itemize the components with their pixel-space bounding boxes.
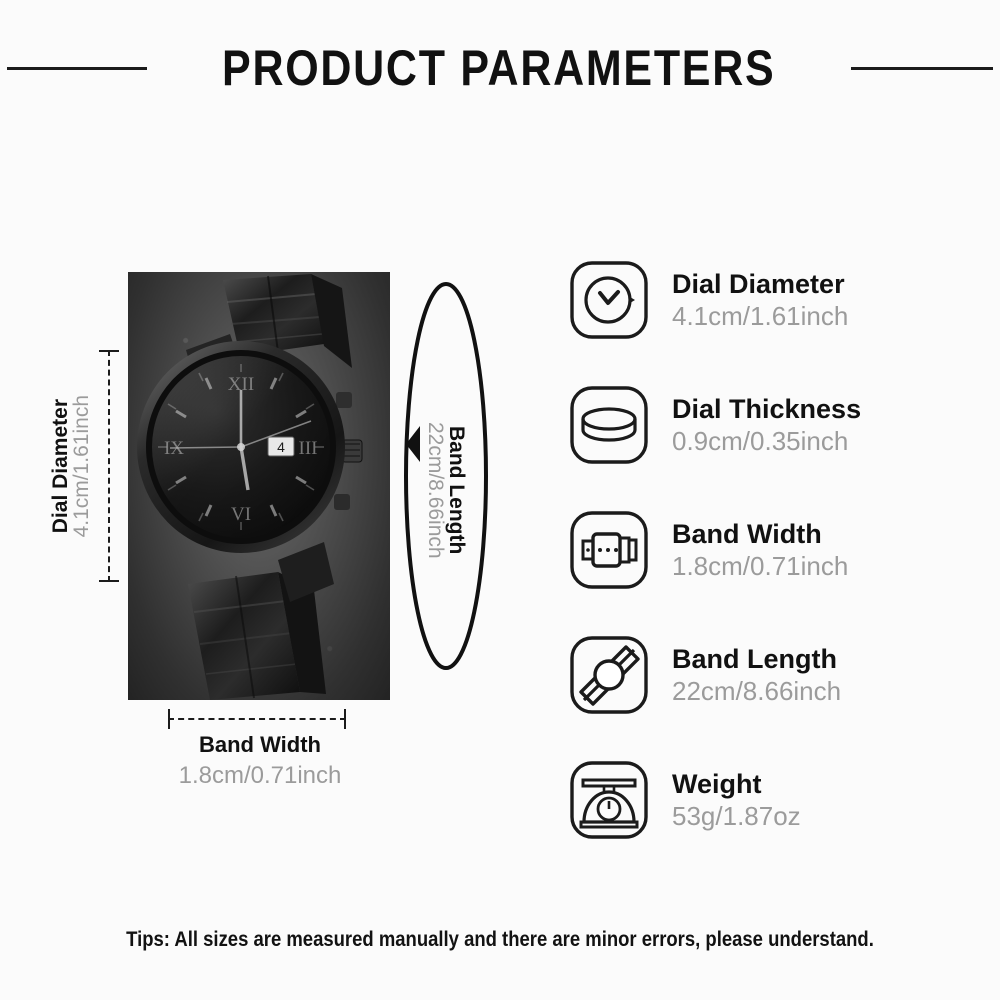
- title-rule-left: [7, 67, 147, 70]
- measure-cap-left: [168, 709, 170, 729]
- product-photo: XII IX III VI 4: [128, 272, 390, 700]
- band-width-annotation-label: Band Width: [60, 730, 460, 760]
- spec-label-dial-thickness: Dial Thickness: [672, 393, 968, 426]
- disc-thickness-icon: [568, 384, 650, 466]
- band-width-annotation: Band Width 1.8cm/0.71inch: [60, 730, 460, 791]
- spec-text-band-width: Band Width 1.8cm/0.71inch: [672, 518, 968, 583]
- footer-tips: Tips: All sizes are measured manually an…: [60, 928, 940, 952]
- band-length-annotation-label: Band Length: [446, 426, 467, 554]
- spec-text-dial-thickness: Dial Thickness 0.9cm/0.35inch: [672, 393, 968, 458]
- kitchen-scale-icon: [568, 759, 650, 841]
- spec-text-weight: Weight 53g/1.87oz: [672, 768, 968, 833]
- measure-cap-right: [344, 709, 346, 729]
- spec-value-band-length: 22cm/8.66inch: [672, 676, 968, 708]
- spec-row-band-width: Band Width 1.8cm/0.71inch: [568, 502, 968, 598]
- measure-dashed-line-h: [168, 718, 346, 720]
- watch-strap-diagonal-icon: [568, 634, 650, 716]
- spec-label-band-length: Band Length: [672, 643, 968, 676]
- band-width-annotation-value: 1.8cm/0.71inch: [60, 760, 460, 791]
- spec-label-band-width: Band Width: [672, 518, 968, 551]
- watch-illustration: XII IX III VI 4: [128, 272, 390, 700]
- spec-row-dial-diameter: Dial Diameter 4.1cm/1.61inch: [568, 252, 968, 348]
- dial-diameter-annotation-label: Dial Diameter: [50, 399, 71, 533]
- page-header: PRODUCT PARAMETERS: [0, 38, 1000, 98]
- spec-value-band-width: 1.8cm/0.71inch: [672, 551, 968, 583]
- spec-text-band-length: Band Length 22cm/8.66inch: [672, 643, 968, 708]
- spec-value-dial-thickness: 0.9cm/0.35inch: [672, 426, 968, 458]
- spec-value-dial-diameter: 4.1cm/1.61inch: [672, 301, 968, 333]
- measure-dashed-line: [108, 350, 110, 582]
- band-length-annotation: Band Length 22cm/8.66inch: [396, 380, 496, 600]
- dial-diameter-annotation: Dial Diameter 4.1cm/1.61inch: [38, 350, 104, 582]
- band-length-annotation-value: 22cm/8.66inch: [425, 422, 446, 559]
- dial-diameter-annotation-value: 4.1cm/1.61inch: [71, 395, 92, 537]
- spec-list: Dial Diameter 4.1cm/1.61inch Dial Thickn…: [568, 252, 968, 877]
- spec-value-weight: 53g/1.87oz: [672, 801, 968, 833]
- band-clasp-icon: [568, 509, 650, 591]
- spec-label-weight: Weight: [672, 768, 968, 801]
- watch-dial-icon: [568, 259, 650, 341]
- spec-row-dial-thickness: Dial Thickness 0.9cm/0.35inch: [568, 377, 968, 473]
- dial-diameter-measure-line: [108, 350, 110, 582]
- spec-label-dial-diameter: Dial Diameter: [672, 268, 968, 301]
- spec-text-dial-diameter: Dial Diameter 4.1cm/1.61inch: [672, 268, 968, 333]
- spec-row-band-length: Band Length 22cm/8.66inch: [568, 627, 968, 723]
- page-title: PRODUCT PARAMETERS: [222, 39, 775, 97]
- spec-row-weight: Weight 53g/1.87oz: [568, 752, 968, 848]
- band-width-measure-line: [168, 718, 346, 720]
- title-rule-right: [851, 67, 993, 70]
